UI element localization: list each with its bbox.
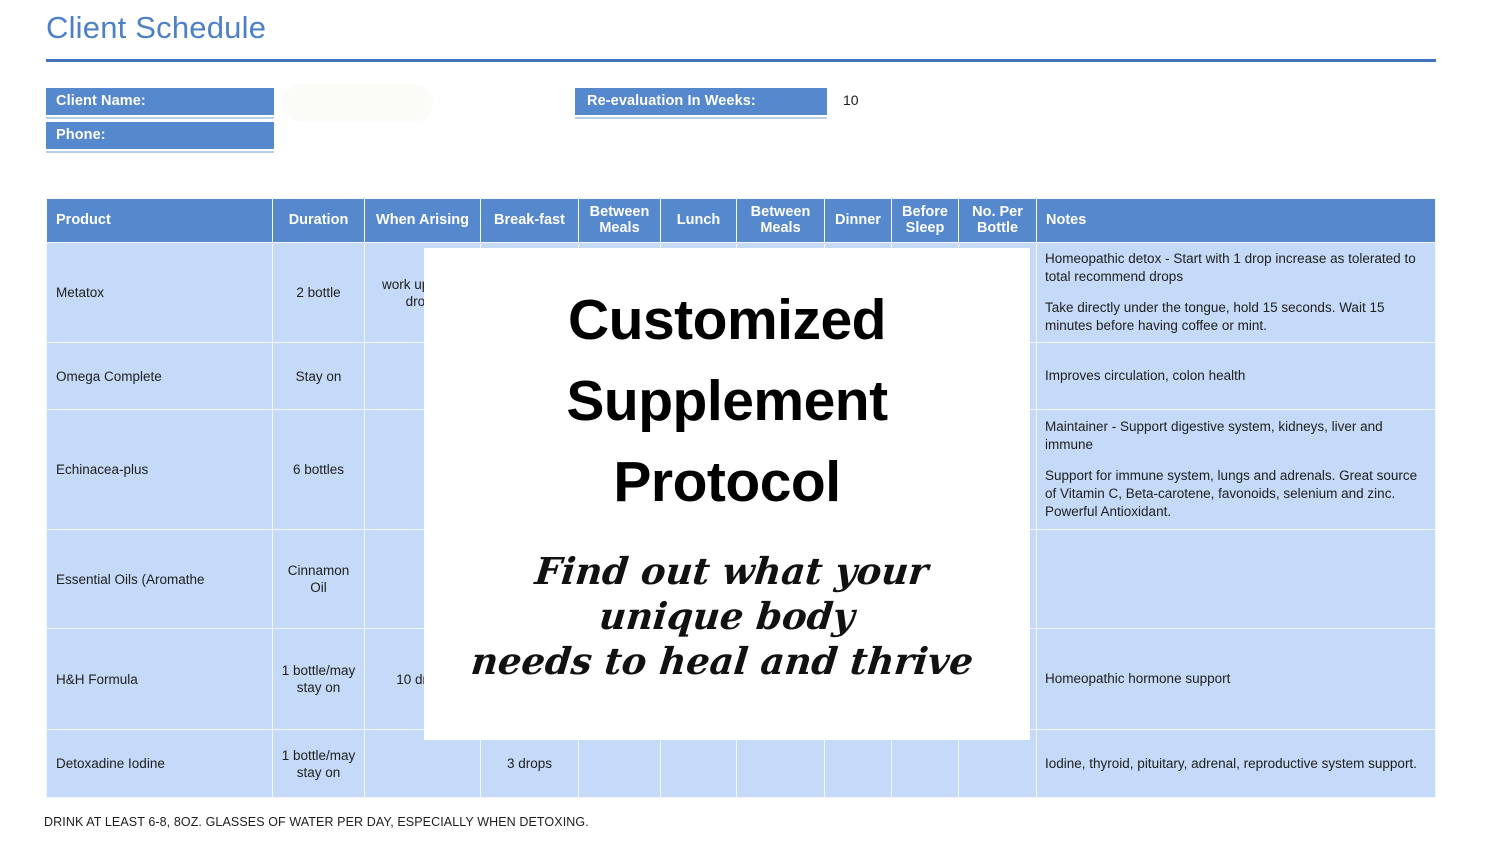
- hydration-footer-note: DRINK AT LEAST 6-8, 8OZ. GLASSES OF WATE…: [44, 815, 589, 829]
- cell-product: Detoxadine Iodine: [47, 730, 273, 798]
- cell-notes: Homeopathic hormone support: [1037, 629, 1436, 730]
- cell-product: Omega Complete: [47, 343, 273, 410]
- cell-duration: Cinnamon Oil: [273, 530, 365, 629]
- cell-before-sleep: [892, 730, 959, 798]
- reevaluation-value: 10: [843, 92, 859, 108]
- cell-lunch: [661, 730, 737, 798]
- page-title: Client Schedule: [46, 10, 266, 46]
- cell-product: Essential Oils (Aromathe: [47, 530, 273, 629]
- cell-notes: Improves circulation, colon health: [1037, 343, 1436, 410]
- phone-field[interactable]: Phone:: [46, 122, 274, 151]
- promo-subtitle-line-3: needs to heal and thrive: [469, 639, 976, 684]
- cell-duration: Stay on: [273, 343, 365, 410]
- column-header-product[interactable]: Product: [47, 199, 273, 243]
- client-name-field[interactable]: Client Name:: [46, 88, 274, 117]
- promo-heading: Customized Supplement Protocol: [566, 280, 887, 523]
- cell-product: H&H Formula: [47, 629, 273, 730]
- title-divider: [46, 59, 1436, 62]
- column-header-dinner[interactable]: Dinner: [825, 199, 892, 243]
- column-header-notes[interactable]: Notes: [1037, 199, 1436, 243]
- promo-subtitle-line-2: unique body: [474, 594, 981, 639]
- cell-duration: 1 bottle/may stay on: [273, 629, 365, 730]
- cell-notes: Homeopathic detox - Start with 1 drop in…: [1037, 243, 1436, 343]
- cell-notes: Iodine, thyroid, pituitary, adrenal, rep…: [1037, 730, 1436, 798]
- cell-breakfast: 3 drops: [481, 730, 579, 798]
- phone-label: Phone:: [46, 122, 274, 151]
- note-spacer: [1045, 454, 1429, 467]
- promo-subtitle: Find out what your unique body needs to …: [469, 549, 985, 684]
- column-header-when-arising[interactable]: When Arising: [365, 199, 481, 243]
- note-line-2: Support for immune system, lungs and adr…: [1045, 467, 1429, 521]
- column-header-duration[interactable]: Duration: [273, 199, 365, 243]
- cell-dinner: [825, 730, 892, 798]
- watermark-blob: [283, 84, 433, 122]
- note-line-2: Take directly under the tongue, hold 15 …: [1045, 299, 1429, 335]
- cell-notes: Maintainer - Support digestive system, k…: [1037, 410, 1436, 530]
- promo-overlay-card: Customized Supplement Protocol Find out …: [424, 248, 1030, 740]
- promo-heading-line-1: Customized: [568, 288, 886, 352]
- reevaluation-label: Re-evaluation In Weeks:: [575, 88, 827, 117]
- cell-between-meals-2: [737, 730, 825, 798]
- cell-product: Metatox: [47, 243, 273, 343]
- cell-no-per-bottle: [959, 730, 1037, 798]
- note-line-1: Homeopathic detox - Start with 1 drop in…: [1045, 250, 1429, 286]
- column-header-no-per-bottle[interactable]: No. Per Bottle: [959, 199, 1037, 243]
- cell-duration: 2 bottle: [273, 243, 365, 343]
- promo-heading-line-3: Protocol: [613, 450, 840, 514]
- note-line-1: Improves circulation, colon health: [1045, 367, 1429, 385]
- column-header-between-meals-2[interactable]: Between Meals: [737, 199, 825, 243]
- cell-duration: 1 bottle/may stay on: [273, 730, 365, 798]
- column-header-breakfast[interactable]: Break-fast: [481, 199, 579, 243]
- cell-notes: [1037, 530, 1436, 629]
- column-header-lunch[interactable]: Lunch: [661, 199, 737, 243]
- column-header-before-sleep[interactable]: Before Sleep: [892, 199, 959, 243]
- promo-subtitle-line-1: Find out what your: [478, 549, 985, 594]
- cell-duration: 6 bottles: [273, 410, 365, 530]
- table-header-row: Product Duration When Arising Break-fast…: [47, 199, 1436, 243]
- note-line-1: Maintainer - Support digestive system, k…: [1045, 418, 1429, 454]
- client-name-label: Client Name:: [46, 88, 274, 117]
- note-spacer: [1045, 286, 1429, 299]
- table-row: Detoxadine Iodine 1 bottle/may stay on 3…: [47, 730, 1436, 798]
- cell-when-arising: [365, 730, 481, 798]
- cell-between-meals-1: [579, 730, 661, 798]
- promo-heading-line-2: Supplement: [566, 369, 887, 433]
- column-header-between-meals-1[interactable]: Between Meals: [579, 199, 661, 243]
- cell-product: Echinacea-plus: [47, 410, 273, 530]
- reevaluation-field[interactable]: Re-evaluation In Weeks:: [575, 88, 827, 117]
